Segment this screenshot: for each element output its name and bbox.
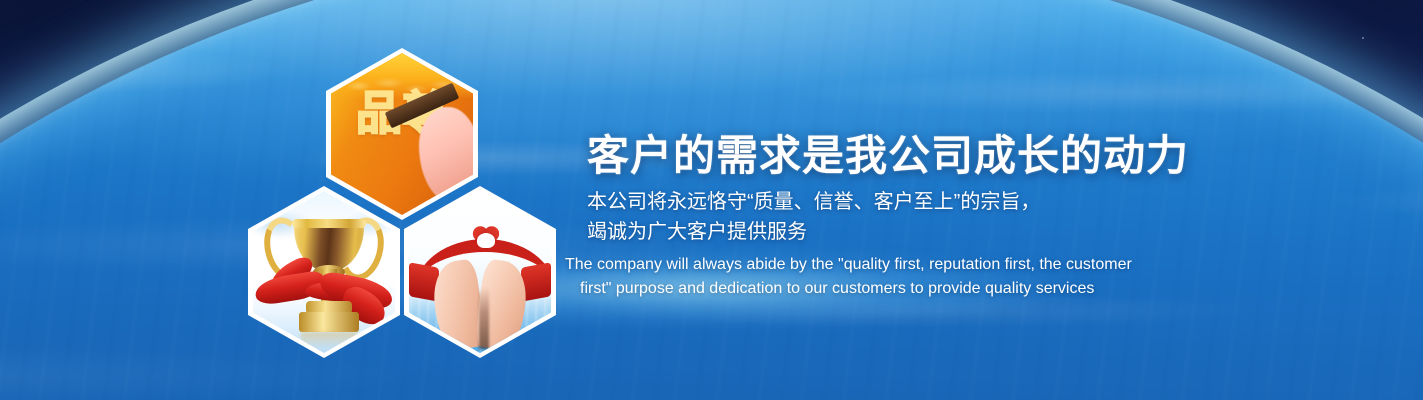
heart-inner-cutout <box>477 233 495 248</box>
subtitle-english-line-2: first" purpose and dedication to our cus… <box>580 277 1150 300</box>
slogan-copy-block: 客户的需求是我公司成长的动力 本公司将永远恪守“质量、信誉、客户至上”的宗旨， … <box>565 134 1185 300</box>
page-title: 客户的需求是我公司成长的动力 <box>587 134 1185 179</box>
subtitle-chinese: 本公司将永远恪守“质量、信誉、客户至上”的宗旨， 竭诚为广大客户提供服务 <box>587 187 1185 248</box>
trophy-reflection <box>301 332 357 348</box>
hexagon-image-cluster: 品尊 <box>238 48 568 360</box>
company-slogan-banner: 品尊 <box>0 0 1423 400</box>
trophy-rim <box>292 219 366 228</box>
hexagon-hands-holding-heart[interactable] <box>404 186 556 358</box>
subtitle-english-line-1: The company will always abide by the "qu… <box>565 253 1150 276</box>
hexagon-gold-trophy[interactable] <box>248 186 400 358</box>
hexagon-stone-seal-carving[interactable]: 品尊 <box>326 48 478 220</box>
hexagon-trophy-inner <box>253 191 395 353</box>
hands-center-shadow <box>479 287 489 349</box>
subtitle-chinese-line-1: 本公司将永远恪守“质量、信誉、客户至上”的宗旨， <box>587 187 1185 217</box>
subtitle-chinese-line-2: 竭诚为广大客户提供服务 <box>587 217 1185 247</box>
trophy-base-lower <box>299 312 359 332</box>
subtitle-english: The company will always abide by the "qu… <box>565 253 1150 300</box>
hexagon-seal-inner: 品尊 <box>331 53 473 215</box>
hexagon-hands-inner <box>409 191 551 353</box>
